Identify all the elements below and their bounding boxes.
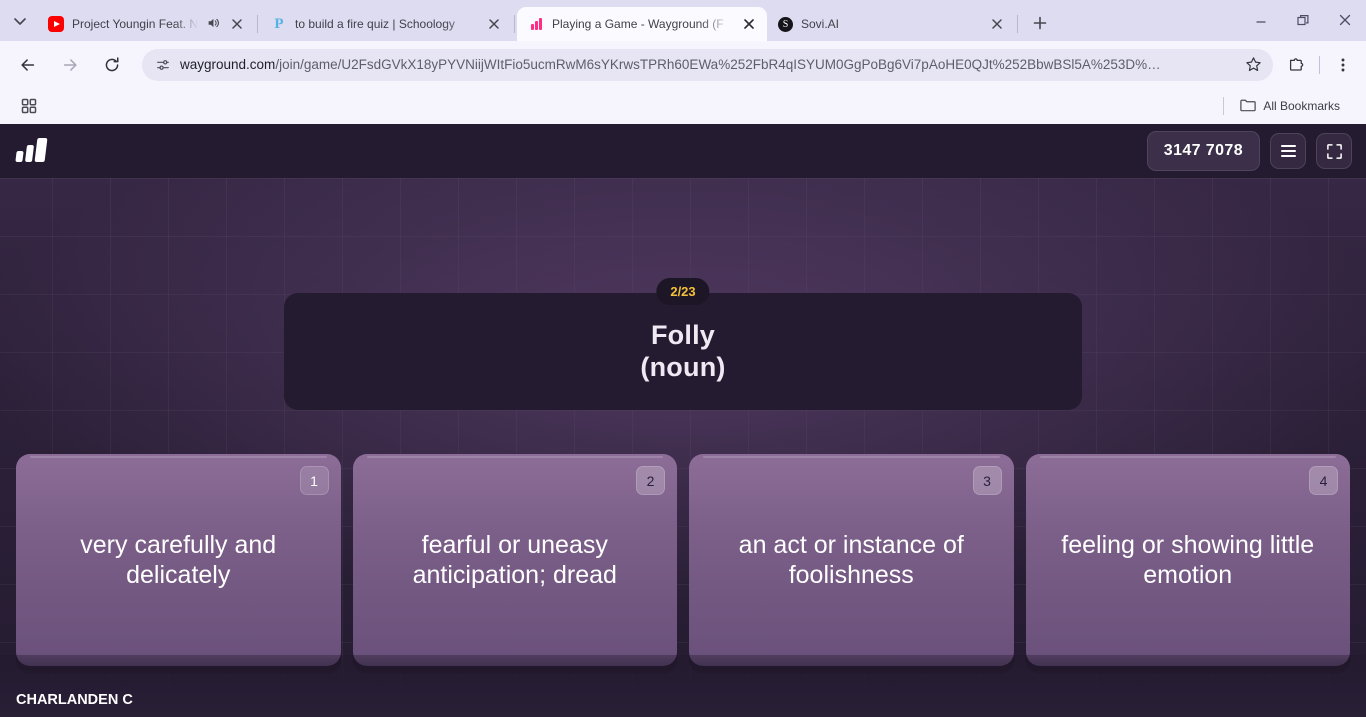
question-card: Folly (noun) bbox=[284, 293, 1082, 410]
answer-option-1[interactable]: 1 very carefully and delicately bbox=[16, 454, 341, 666]
reload-icon bbox=[103, 56, 121, 74]
forward-button[interactable] bbox=[54, 49, 86, 81]
tab-divider bbox=[257, 15, 258, 33]
game-code-badge: 3147 7078 bbox=[1147, 131, 1260, 171]
header-actions: 3147 7078 bbox=[1147, 131, 1352, 171]
browser-toolbar: wayground.com/join/game/U2FsdGVkX18yPYVN… bbox=[0, 41, 1366, 88]
answer-option-3[interactable]: 3 an act or instance of foolishness bbox=[689, 454, 1014, 666]
bookmarks-right-group: All Bookmarks bbox=[1223, 94, 1356, 119]
site-settings-icon[interactable] bbox=[150, 52, 176, 78]
game-stage: 2/23 Folly (noun) 1 very carefully and d… bbox=[0, 178, 1366, 717]
youtube-icon bbox=[48, 16, 64, 32]
answer-text: very carefully and delicately bbox=[34, 530, 323, 591]
bookmarks-bar: All Bookmarks bbox=[0, 88, 1366, 124]
reload-button[interactable] bbox=[96, 49, 128, 81]
tab-strip: Project Youngin Feat. NBA Y P to build a… bbox=[0, 0, 1366, 41]
question-text: Folly (noun) bbox=[640, 320, 725, 383]
answer-text: an act or instance of foolishness bbox=[707, 530, 996, 591]
answer-text: fearful or uneasy anticipation; dread bbox=[371, 530, 660, 591]
browser-tab-sovi[interactable]: S Sovi.AI bbox=[767, 7, 1015, 41]
chevron-down-icon bbox=[14, 15, 26, 27]
tab-divider bbox=[514, 15, 515, 33]
maximize-icon bbox=[1297, 14, 1310, 27]
toolbar-divider bbox=[1319, 56, 1320, 74]
tab-close-button[interactable] bbox=[228, 15, 246, 33]
game-header: 3147 7078 bbox=[0, 124, 1366, 178]
footer-bar bbox=[0, 655, 1366, 717]
forward-arrow-icon bbox=[61, 56, 79, 74]
answer-number-badge: 1 bbox=[300, 466, 329, 495]
folder-icon bbox=[1240, 98, 1256, 115]
three-dot-menu-icon bbox=[1335, 57, 1351, 73]
browser-chrome: Project Youngin Feat. NBA Y P to build a… bbox=[0, 0, 1366, 124]
browser-tab-wayground[interactable]: Playing a Game - Wayground (F bbox=[517, 7, 767, 41]
hamburger-menu-button[interactable] bbox=[1270, 133, 1306, 169]
tab-audio-icon[interactable] bbox=[206, 16, 220, 33]
url-domain: wayground.com bbox=[180, 57, 275, 72]
fullscreen-icon bbox=[1326, 143, 1343, 160]
url-path: /join/game/U2FsdGVkX18yPYVNiijWItFio5ucm… bbox=[275, 57, 1160, 72]
new-tab-button[interactable] bbox=[1026, 9, 1054, 37]
browser-menu-button[interactable] bbox=[1328, 50, 1358, 80]
tab-close-button[interactable] bbox=[740, 15, 758, 33]
apps-grid-icon[interactable] bbox=[14, 92, 44, 120]
wayground-app: 3147 7078 2/23 Folly (noun) 1 very caref… bbox=[0, 124, 1366, 717]
tab-title: Project Youngin Feat. NBA Y bbox=[72, 17, 198, 31]
wayground-icon bbox=[528, 18, 544, 30]
answer-option-2[interactable]: 2 fearful or uneasy anticipation; dread bbox=[353, 454, 678, 666]
bookmark-star-button[interactable] bbox=[1239, 51, 1267, 79]
tab-title: to build a fire quiz | Schoology bbox=[295, 17, 477, 31]
minimize-button[interactable] bbox=[1240, 4, 1282, 36]
minimize-icon bbox=[1255, 14, 1267, 26]
url-text: wayground.com/join/game/U2FsdGVkX18yPYVN… bbox=[176, 57, 1239, 72]
all-bookmarks-button[interactable]: All Bookmarks bbox=[1232, 94, 1348, 119]
close-icon bbox=[1339, 14, 1351, 26]
answer-options: 1 very carefully and delicately 2 fearfu… bbox=[0, 454, 1366, 666]
close-window-button[interactable] bbox=[1324, 4, 1366, 36]
answer-number-badge: 2 bbox=[636, 466, 665, 495]
tab-title: Playing a Game - Wayground (F bbox=[552, 17, 732, 31]
back-arrow-icon bbox=[19, 56, 37, 74]
answer-number-badge: 4 bbox=[1309, 466, 1338, 495]
window-controls bbox=[1240, 3, 1366, 37]
maximize-button[interactable] bbox=[1282, 4, 1324, 36]
answer-text: feeling or showing little emotion bbox=[1044, 530, 1333, 591]
question-line-1: Folly bbox=[640, 320, 725, 352]
tab-close-button[interactable] bbox=[988, 15, 1006, 33]
fullscreen-button[interactable] bbox=[1316, 133, 1352, 169]
sovi-icon: S bbox=[778, 17, 793, 32]
bookmarks-divider bbox=[1223, 97, 1224, 115]
schoology-icon: P bbox=[271, 16, 287, 32]
answer-number-badge: 3 bbox=[973, 466, 1002, 495]
plus-icon bbox=[1033, 16, 1047, 30]
tab-search-button[interactable] bbox=[6, 7, 34, 35]
player-name: CHARLANDEN C bbox=[16, 690, 166, 711]
tab-close-button[interactable] bbox=[485, 15, 503, 33]
address-bar[interactable]: wayground.com/join/game/U2FsdGVkX18yPYVN… bbox=[142, 49, 1273, 81]
browser-tab-schoology[interactable]: P to build a fire quiz | Schoology bbox=[260, 7, 512, 41]
star-icon bbox=[1245, 56, 1262, 73]
tab-title: Sovi.AI bbox=[801, 17, 980, 31]
browser-tab-youtube[interactable]: Project Youngin Feat. NBA Y bbox=[37, 7, 255, 41]
wayground-logo[interactable] bbox=[16, 140, 46, 162]
hamburger-menu-icon bbox=[1281, 145, 1296, 156]
tab-divider bbox=[1017, 15, 1018, 33]
extensions-button[interactable] bbox=[1281, 50, 1311, 80]
puzzle-piece-icon bbox=[1287, 56, 1305, 74]
all-bookmarks-label: All Bookmarks bbox=[1263, 99, 1340, 113]
question-line-2: (noun) bbox=[640, 352, 725, 384]
answer-option-4[interactable]: 4 feeling or showing little emotion bbox=[1026, 454, 1351, 666]
back-button[interactable] bbox=[12, 49, 44, 81]
question-counter: 2/23 bbox=[656, 278, 709, 305]
